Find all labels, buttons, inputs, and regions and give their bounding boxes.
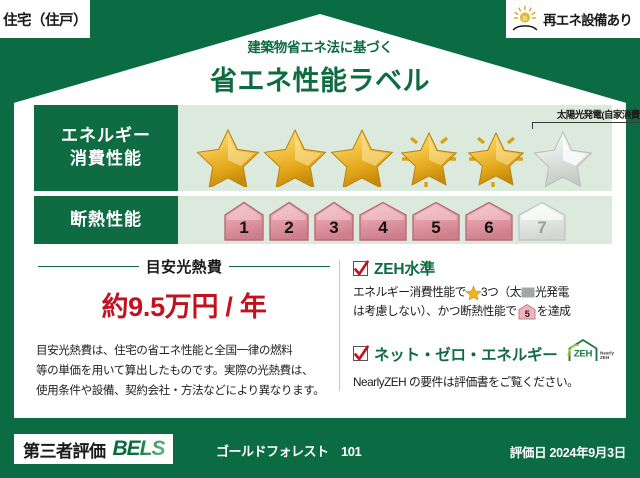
cost-note-line-1: 目安光熱費は、住宅の省エネ性能と全国一律の燃料 <box>36 341 332 361</box>
energy-performance-label: エネルギー 消費性能 <box>34 105 178 191</box>
svg-text:ZEH: ZEH <box>573 349 592 360</box>
estimated-utility-cost-value: 約9.5万円 / 年 <box>34 285 334 324</box>
energy-performance-rating-area: 太陽光発電(自家消費)分 <box>178 105 612 191</box>
redacted-block-icon <box>521 286 535 299</box>
star-icon-filled-solar-4 <box>396 125 462 187</box>
zeh-standard-text-e: を達成 <box>537 302 571 321</box>
heading-rule-left <box>38 266 139 268</box>
energy-performance-label: 住宅（住戸） D 再エネ設備あり 建築物省エネ法に基づ <box>0 0 640 478</box>
house-level-number-6: 6 <box>463 219 515 236</box>
star-icon-filled-1 <box>195 125 261 187</box>
zeh-logo-icon: ZEH Nearly ZEH <box>565 338 617 369</box>
building-name: ゴールドフォレスト 101 <box>216 441 361 460</box>
renewable-energy-badge: D 再エネ設備あり <box>506 0 640 38</box>
zeh-section: ZEH水準 エネルギー消費性能で 3つ（太 <box>353 256 617 401</box>
svg-text:D: D <box>523 15 528 22</box>
net-zero-energy-text: NearlyZEH の要件は評価書をご覧ください。 <box>353 373 617 392</box>
performance-panel: エネルギー 消費性能 太陽光発電(自家消費)分 <box>34 105 612 244</box>
house-level-icon-5: 5 <box>410 199 462 241</box>
estimated-utility-cost-heading-label: 目安光熱費 <box>146 256 223 277</box>
estimated-utility-cost-heading: 目安光熱費 <box>34 256 334 277</box>
net-zero-energy-title: ネット・ゼロ・エネルギー <box>374 343 558 365</box>
energy-performance-label-line1: エネルギー <box>61 125 151 148</box>
zeh-standard-text-c: 光発電 <box>535 283 569 302</box>
solar-sun-icon: D <box>510 4 540 34</box>
insulation-performance-rating-area: 1 2 3 <box>178 196 612 244</box>
third-party-evaluation-label: 第三者評価 <box>23 437 106 462</box>
net-zero-energy-description: NearlyZEH の要件は評価書をご覧ください。 <box>353 373 617 392</box>
insulation-performance-row: 断熱性能 <box>34 196 612 244</box>
label-details-area: 目安光熱費 約9.5万円 / 年 目安光熱費は、住宅の省エネ性能と全国一律の燃料… <box>34 256 612 401</box>
star-icon-empty-6 <box>530 125 596 187</box>
house-level-icon-1: 1 <box>222 199 266 241</box>
zeh-standard-checkbox[interactable] <box>353 261 368 276</box>
house-level-icon-6: 6 <box>463 199 515 241</box>
house-level-icon-3: 3 <box>312 199 356 241</box>
zeh-standard-text-d: は考慮しない）、かつ断熱性能で <box>353 302 517 321</box>
cost-note-line-3: 使用条件や設備、契約会社・方法などにより異なります。 <box>36 381 332 401</box>
bels-logo: BELS <box>113 437 165 461</box>
zeh-standard-text-a: エネルギー消費性能で <box>353 283 466 302</box>
star-rating <box>178 123 612 189</box>
house-level-icon: 5 <box>517 303 537 320</box>
heading-rule-right <box>229 266 330 268</box>
estimated-utility-cost-section: 目安光熱費 約9.5万円 / 年 目安光熱費は、住宅の省エネ性能と全国一律の燃料… <box>34 256 334 401</box>
housing-type-tag: 住宅（住戸） <box>0 0 90 38</box>
house-level-number-4: 4 <box>357 219 409 236</box>
house-level-number-3: 3 <box>312 219 356 236</box>
house-level-number-1: 1 <box>222 219 266 236</box>
zeh-standard-description: エネルギー消費性能で 3つ（太 光発電 は考慮しない）、 <box>353 283 617 321</box>
renewable-energy-badge-label: 再エネ設備あり <box>543 9 632 29</box>
zeh-standard-title: ZEH水準 <box>374 257 435 279</box>
bels-badge: 第三者評価 BELS <box>14 434 173 464</box>
evaluation-date: 評価日 2024年9月3日 <box>510 442 626 461</box>
insulation-performance-label-line1: 断熱性能 <box>70 209 142 232</box>
cost-note-line-2: 等の単価を用いて算出したものです。実際の光熱費は、 <box>36 361 332 381</box>
net-zero-energy-heading: ネット・ゼロ・エネルギー ZEH Nearly ZEH <box>353 338 617 369</box>
house-level-icon-7: 7 <box>516 199 568 241</box>
energy-performance-label-line2: 消費性能 <box>70 148 142 171</box>
housing-type-tag-label: 住宅（住戸） <box>3 9 87 30</box>
net-zero-energy-checkbox[interactable] <box>353 346 368 361</box>
zeh-standard-heading: ZEH水準 <box>353 257 617 279</box>
section-divider <box>339 260 340 391</box>
house-level-icon-2: 2 <box>267 199 311 241</box>
insulation-performance-label: 断熱性能 <box>34 196 178 244</box>
label-footer: 第三者評価 BELS ゴールドフォレスト 101 評価日 2024年9月3日 <box>0 428 640 478</box>
zeh-standard-block: ZEH水準 エネルギー消費性能で 3つ（太 <box>353 257 617 321</box>
zeh-standard-text-b: 3つ（太 <box>481 283 521 302</box>
house-level-number-7: 7 <box>516 219 568 236</box>
star-icon-filled-3 <box>329 125 395 187</box>
star-icon-filled-2 <box>262 125 328 187</box>
house-level-number-5: 5 <box>410 219 462 236</box>
star-icon-filled-solar-5 <box>463 125 529 187</box>
house-level-icon-4: 4 <box>357 199 409 241</box>
insulation-level-scale: 1 2 3 <box>178 199 612 241</box>
house-level-number-2: 2 <box>267 219 311 236</box>
estimated-utility-cost-note: 目安光熱費は、住宅の省エネ性能と全国一律の燃料 等の単価を用いて算出したものです… <box>34 341 334 401</box>
star-icon <box>466 285 481 300</box>
svg-text:ZEH: ZEH <box>600 355 610 360</box>
net-zero-energy-block: ネット・ゼロ・エネルギー ZEH Nearly ZEH NearlyZEH の要… <box>353 338 617 392</box>
energy-performance-row: エネルギー 消費性能 太陽光発電(自家消費)分 <box>34 105 612 191</box>
